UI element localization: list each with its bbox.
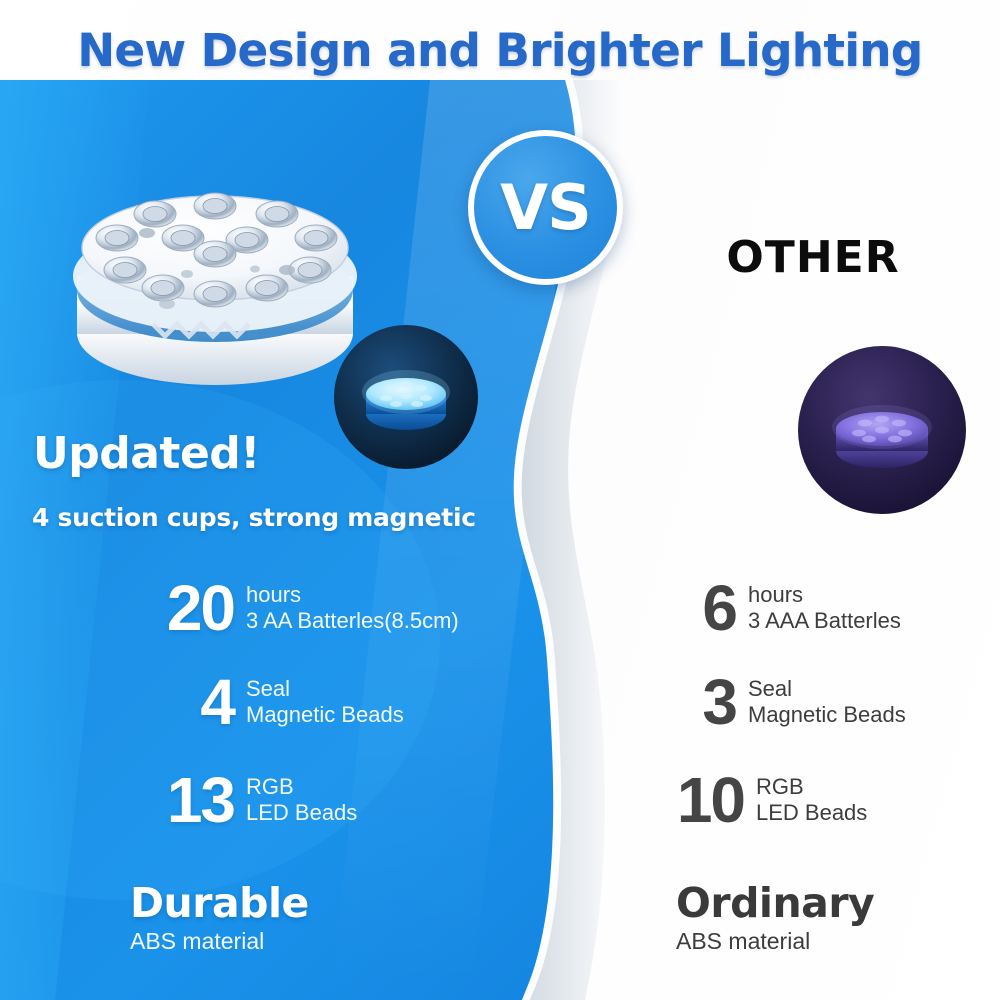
updated-heading: Updated! [33, 428, 260, 479]
vs-label: VS [500, 177, 591, 239]
spec-label-bottom: LED Beads [756, 800, 867, 827]
footer-left-title: Durable [130, 882, 309, 925]
spec-label: RGB LED Beads [756, 774, 867, 828]
spec-label-bottom: LED Beads [246, 800, 357, 827]
spec-value: 4 [128, 672, 234, 733]
spec-label: hours 3 AAA Batterles [748, 582, 901, 636]
spec-value: 6 [668, 578, 736, 639]
spec-row-right-rgb: 10 RGB LED Beads [652, 770, 982, 831]
footer-right-title: Ordinary [676, 882, 874, 925]
footer-right-subtitle: ABS material [676, 927, 874, 957]
spec-label-top: hours [246, 582, 459, 609]
spec-label-top: RGB [756, 774, 867, 801]
spec-value: 13 [118, 770, 234, 831]
spec-label-bottom: Magnetic Beads [748, 702, 906, 729]
spec-value: 3 [668, 672, 736, 733]
spec-row-right-seal: 3 Seal Magnetic Beads [668, 672, 998, 733]
spec-label-top: Seal [748, 676, 906, 703]
footer-right: Ordinary ABS material [676, 882, 874, 957]
spec-label-top: RGB [246, 774, 357, 801]
spec-label-top: hours [748, 582, 901, 609]
vs-badge: VS [468, 130, 623, 285]
spec-value: 20 [128, 578, 234, 639]
spec-label-bottom: 3 AAA Batterles [748, 608, 901, 635]
spec-value: 10 [652, 770, 744, 831]
spec-row-left-hours: 20 hours 3 AA Batterles(8.5cm) [128, 578, 488, 639]
spec-label: RGB LED Beads [246, 774, 357, 828]
spec-label-top: Seal [246, 676, 404, 703]
spec-row-left-seal: 4 Seal Magnetic Beads [128, 672, 488, 733]
other-product-image [795, 343, 970, 518]
spec-label: Seal Magnetic Beads [748, 676, 906, 730]
footer-left: Durable ABS material [130, 882, 309, 957]
spec-label: Seal Magnetic Beads [246, 676, 404, 730]
suction-cups-subheading: 4 suction cups, strong magnetic [32, 503, 476, 532]
spec-row-right-hours: 6 hours 3 AAA Batterles [668, 578, 998, 639]
infographic-canvas: New Design and Brighter Lighting New Des… [0, 0, 1000, 1000]
footer-left-subtitle: ABS material [130, 927, 309, 957]
spec-label-bottom: 3 AA Batterles(8.5cm) [246, 608, 459, 635]
spec-row-left-rgb: 13 RGB LED Beads [118, 770, 478, 831]
spec-label-bottom: Magnetic Beads [246, 702, 404, 729]
blue-glow-inset-image [331, 322, 481, 472]
page-title: New Design and Brighter Lighting [0, 24, 1000, 77]
other-heading: OTHER [648, 232, 978, 283]
spec-label: hours 3 AA Batterles(8.5cm) [246, 582, 459, 636]
